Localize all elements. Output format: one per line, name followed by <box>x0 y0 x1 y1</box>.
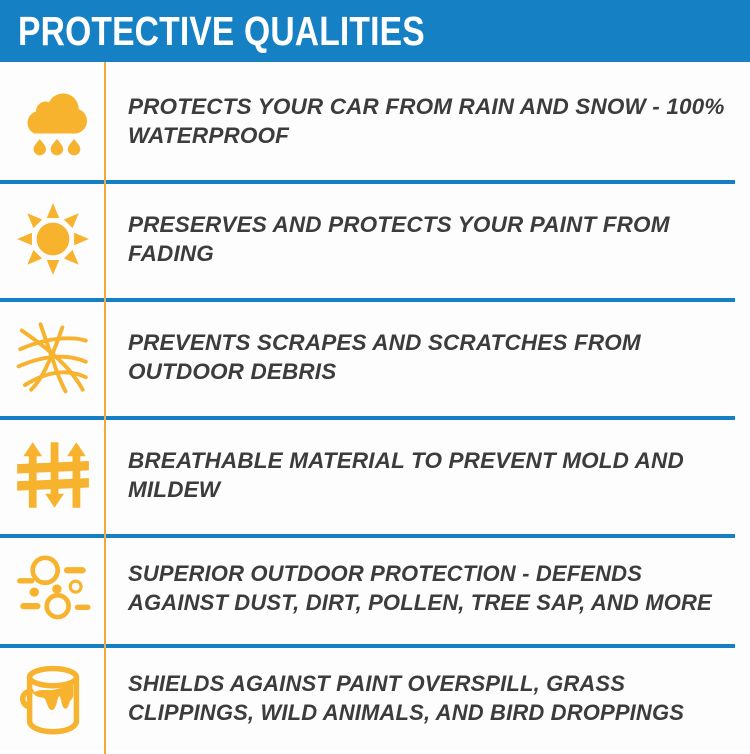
feature-text: PRESERVES AND PROTECTS YOUR PAINT FROM F… <box>128 210 728 269</box>
feature-row: BREATHABLE MATERIAL TO PREVENT MOLD AND … <box>0 416 750 534</box>
text-cell: BREATHABLE MATERIAL TO PREVENT MOLD AND … <box>106 416 750 534</box>
icon-cell <box>0 62 106 180</box>
rain-cloud-icon <box>14 82 92 160</box>
feature-row: PRESERVES AND PROTECTS YOUR PAINT FROM F… <box>0 180 750 298</box>
protective-qualities-infographic: PROTECTIVE QUALITIES PROTECTS YOUR CAR F… <box>0 0 750 750</box>
feature-row: SHIELDS AGAINST PAINT OVERSPILL, GRASS C… <box>0 644 750 754</box>
feature-text: SUPERIOR OUTDOOR PROTECTION - DEFENDS AG… <box>128 560 736 617</box>
feature-row: PREVENTS SCRAPES AND SCRATCHES FROM OUTD… <box>0 298 750 416</box>
sun-icon <box>14 200 92 278</box>
header-banner: PROTECTIVE QUALITIES <box>0 0 750 62</box>
text-cell: PREVENTS SCRAPES AND SCRATCHES FROM OUTD… <box>106 298 750 416</box>
feature-text: SHIELDS AGAINST PAINT OVERSPILL, GRASS C… <box>128 670 736 727</box>
feature-row: PROTECTS YOUR CAR FROM RAIN AND SNOW - 1… <box>0 62 750 180</box>
dust-particles-icon <box>14 550 92 628</box>
icon-cell <box>0 298 106 416</box>
feature-text: PREVENTS SCRAPES AND SCRATCHES FROM OUTD… <box>128 328 728 387</box>
paint-can-icon <box>14 660 92 738</box>
text-cell: PRESERVES AND PROTECTS YOUR PAINT FROM F… <box>106 180 750 298</box>
feature-row: SUPERIOR OUTDOOR PROTECTION - DEFENDS AG… <box>0 534 750 644</box>
feature-text: BREATHABLE MATERIAL TO PREVENT MOLD AND … <box>128 446 728 505</box>
icon-cell <box>0 644 106 754</box>
text-cell: SUPERIOR OUTDOOR PROTECTION - DEFENDS AG… <box>106 534 750 644</box>
feature-text: PROTECTS YOUR CAR FROM RAIN AND SNOW - 1… <box>128 92 728 151</box>
icon-cell <box>0 534 106 644</box>
breathable-arrows-icon <box>14 436 92 514</box>
icon-cell <box>0 180 106 298</box>
icon-cell <box>0 416 106 534</box>
feature-list: PROTECTS YOUR CAR FROM RAIN AND SNOW - 1… <box>0 62 750 754</box>
scratch-net-icon <box>14 318 92 396</box>
text-cell: SHIELDS AGAINST PAINT OVERSPILL, GRASS C… <box>106 644 750 754</box>
text-cell: PROTECTS YOUR CAR FROM RAIN AND SNOW - 1… <box>106 62 750 180</box>
page-title: PROTECTIVE QUALITIES <box>0 11 425 52</box>
